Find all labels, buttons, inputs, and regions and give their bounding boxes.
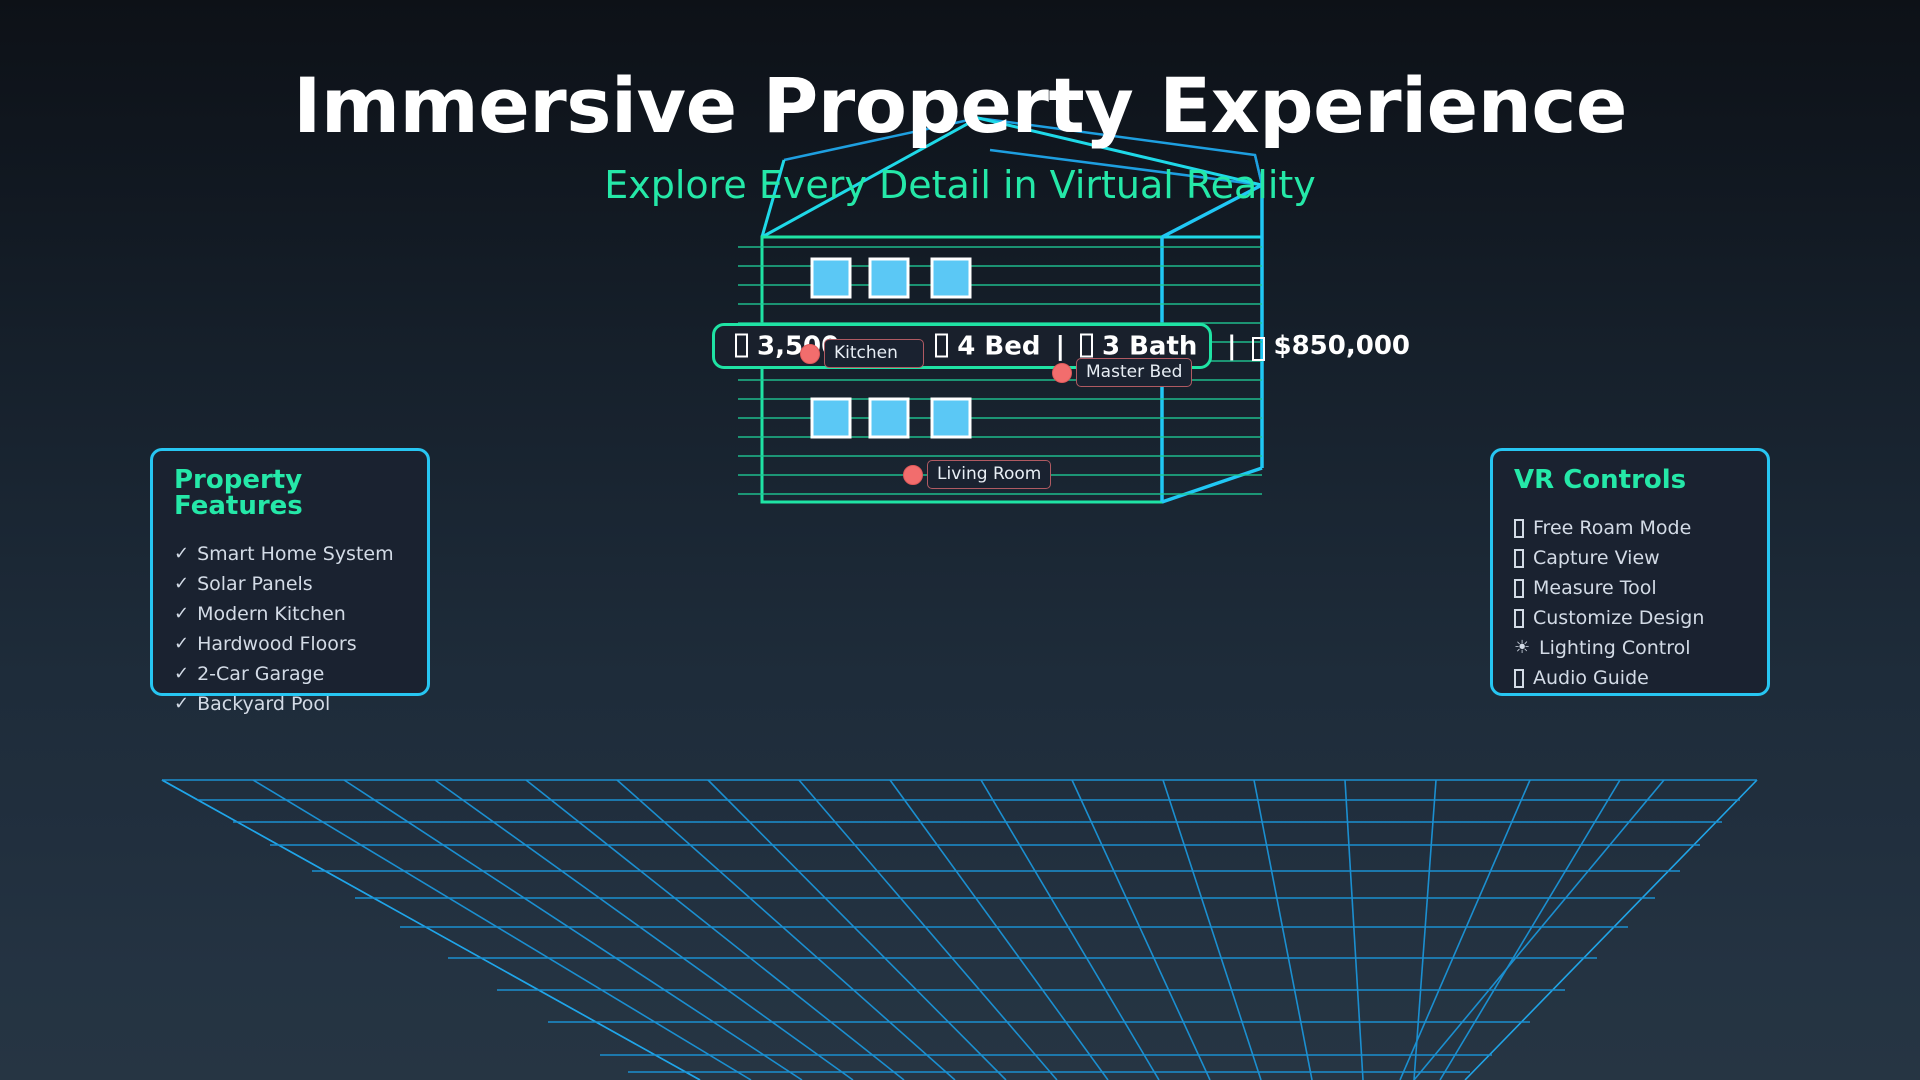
missing-glyph-box-icon <box>1514 669 1524 688</box>
header: Immersive Property Experience Explore Ev… <box>0 0 1920 204</box>
feature-item[interactable]: ✓ Solar Panels <box>174 569 427 599</box>
missing-glyph-box-icon <box>1514 579 1524 598</box>
hotspot-label: Kitchen <box>824 339 924 368</box>
stat-beds: 4 Bed <box>935 331 1040 362</box>
stat-separator-1: | <box>1055 331 1065 361</box>
vr-control-label: Capture View <box>1533 543 1660 573</box>
feature-label: Solar Panels <box>197 569 313 599</box>
hotspot-master-bed[interactable]: Master Bed <box>1052 358 1192 387</box>
feature-label: Backyard Pool <box>197 689 330 719</box>
vr-control-label: Free Roam Mode <box>1533 513 1691 543</box>
missing-glyph-box-icon <box>1514 609 1524 628</box>
feature-item[interactable]: ✓ Hardwood Floors <box>174 629 427 659</box>
floor-perspective-grid <box>162 780 1757 1080</box>
check-icon: ✓ <box>174 539 189 569</box>
missing-glyph-box-icon <box>1252 337 1265 361</box>
stat-separator-3: | <box>1227 331 1237 361</box>
vr-control-item-customize-design[interactable]: Customize Design <box>1514 603 1767 633</box>
stat-value-baths: 3 Bath <box>1102 332 1197 362</box>
check-icon: ✓ <box>174 569 189 599</box>
property-features-list: ✓ Smart Home System ✓ Solar Panels ✓ Mod… <box>153 519 427 719</box>
missing-glyph-box-icon <box>1514 519 1524 538</box>
missing-glyph-box-icon <box>935 334 948 358</box>
feature-label: Modern Kitchen <box>197 599 346 629</box>
check-icon: ✓ <box>174 659 189 689</box>
hotspot-dot-icon <box>903 465 923 485</box>
vr-controls-title: VR Controls <box>1493 451 1767 493</box>
hotspot-dot-icon <box>800 344 820 364</box>
house-windows-lower <box>812 399 970 437</box>
vr-control-item-capture-view[interactable]: Capture View <box>1514 543 1767 573</box>
vr-property-stage: Immersive Property Experience Explore Ev… <box>0 0 1920 1080</box>
vr-control-label: Audio Guide <box>1533 663 1649 693</box>
vr-controls-panel: VR Controls Free Roam Mode Capture View … <box>1490 448 1770 696</box>
vr-control-label: Measure Tool <box>1533 573 1657 603</box>
missing-glyph-box-icon <box>735 334 748 358</box>
vr-control-item-lighting-control[interactable]: ☀ Lighting Control <box>1514 633 1767 663</box>
check-icon: ✓ <box>174 599 189 629</box>
stat-price-overflow: | $850,000 <box>1212 323 1410 369</box>
property-features-panel: Property Features ✓ Smart Home System ✓ … <box>150 448 430 696</box>
stat-baths: 3 Bath <box>1080 331 1197 362</box>
hotspot-label: Living Room <box>927 460 1051 489</box>
check-icon: ✓ <box>174 689 189 719</box>
property-features-title: Property Features <box>153 451 427 519</box>
vr-control-item-measure-tool[interactable]: Measure Tool <box>1514 573 1767 603</box>
vr-control-item-audio-guide[interactable]: Audio Guide <box>1514 663 1767 693</box>
feature-label: Hardwood Floors <box>197 629 357 659</box>
vr-control-label: Lighting Control <box>1539 633 1691 663</box>
page-title: Immersive Property Experience <box>0 0 1920 144</box>
vr-control-item-free-roam[interactable]: Free Roam Mode <box>1514 513 1767 543</box>
feature-label: 2-Car Garage <box>197 659 324 689</box>
page-subtitle: Explore Every Detail in Virtual Reality <box>0 144 1920 204</box>
sun-icon: ☀ <box>1514 633 1530 663</box>
feature-item[interactable]: ✓ Modern Kitchen <box>174 599 427 629</box>
feature-item[interactable]: ✓ Smart Home System <box>174 539 427 569</box>
feature-item[interactable]: ✓ Backyard Pool <box>174 689 427 719</box>
hotspot-kitchen[interactable]: Kitchen <box>800 339 924 368</box>
missing-glyph-box-icon <box>1080 334 1093 358</box>
check-icon: ✓ <box>174 629 189 659</box>
hotspot-living-room[interactable]: Living Room <box>903 460 1051 489</box>
hotspot-dot-icon <box>1052 363 1072 383</box>
vr-controls-list: Free Roam Mode Capture View Measure Tool… <box>1493 493 1767 693</box>
stat-value-beds: 4 Bed <box>957 332 1040 362</box>
feature-label: Smart Home System <box>197 539 394 569</box>
hotspot-label: Master Bed <box>1076 358 1192 387</box>
stat-value-price: $850,000 <box>1274 331 1411 361</box>
house-windows-upper <box>812 259 970 297</box>
vr-control-label: Customize Design <box>1533 603 1704 633</box>
feature-item[interactable]: ✓ 2-Car Garage <box>174 659 427 689</box>
missing-glyph-box-icon <box>1514 549 1524 568</box>
